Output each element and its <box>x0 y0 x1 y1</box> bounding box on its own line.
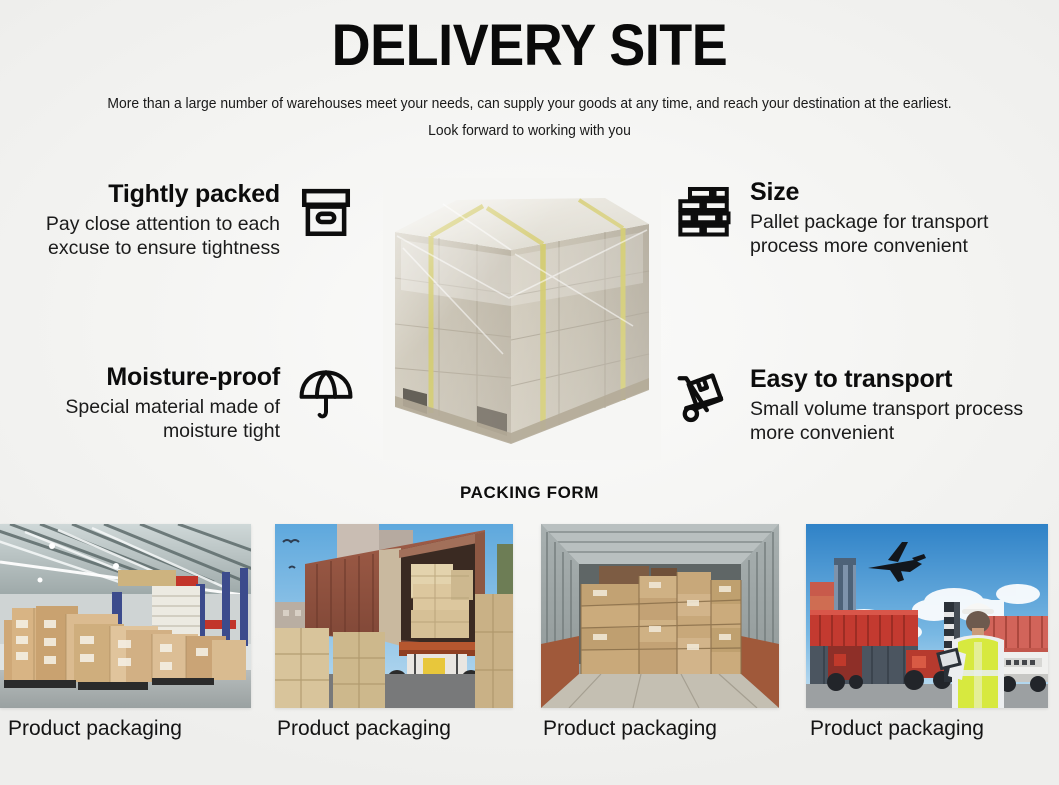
feature-description: Pay close attention to each excuse to en… <box>0 212 280 262</box>
photo-caption: Product packaging <box>8 716 182 741</box>
photo-caption: Product packaging <box>277 716 451 741</box>
feature-text: Size Pallet package for transport proces… <box>750 178 1059 259</box>
header: DELIVERY SITE More than a large number o… <box>0 16 1059 145</box>
page-title: DELIVERY SITE <box>37 16 1022 77</box>
feature-heading: Easy to transport <box>750 365 952 395</box>
photo-port-logistics[interactable] <box>806 524 1048 708</box>
feature-description: Small volume transport process more conv… <box>750 397 1059 447</box>
packing-form-label: PACKING FORM <box>0 483 1059 503</box>
photo-caption: Product packaging <box>810 716 984 741</box>
feature-moisture-proof: Moisture-proof Special material made of … <box>0 363 358 444</box>
feature-size: Size Pallet package for transport proces… <box>672 178 1059 259</box>
brick-wall-icon <box>672 178 736 242</box>
photo-container-interior[interactable] <box>541 524 779 708</box>
photo-caption: Product packaging <box>543 716 717 741</box>
header-subtitle: More than a large number of warehouses m… <box>21 91 1038 145</box>
feature-heading: Moisture-proof <box>106 363 280 393</box>
feature-text: Moisture-proof Special material made of … <box>0 363 280 444</box>
subtitle-line-2: Look forward to working with you <box>21 118 1038 145</box>
box-icon <box>294 180 358 244</box>
hand-truck-icon <box>672 365 736 429</box>
feature-tightly-packed: Tightly packed Pay close attention to ea… <box>0 180 358 261</box>
feature-heading: Size <box>750 178 799 208</box>
photo-captions: Product packaging Product packaging Prod… <box>0 716 1059 756</box>
feature-easy-to-transport: Easy to transport Small volume transport… <box>672 365 1059 446</box>
photo-warehouse-interior[interactable] <box>0 524 251 708</box>
delivery-site-banner: DELIVERY SITE More than a large number o… <box>0 0 1059 785</box>
feature-description: Special material made of moisture tight <box>0 395 280 445</box>
wrapped-pallet-image <box>383 178 661 460</box>
packing-form-photo-strip <box>0 524 1059 712</box>
subtitle-line-1: More than a large number of warehouses m… <box>107 96 951 112</box>
feature-description: Pallet package for transport process mor… <box>750 210 1059 260</box>
feature-text: Easy to transport Small volume transport… <box>750 365 1059 446</box>
umbrella-icon <box>294 363 358 427</box>
feature-text: Tightly packed Pay close attention to ea… <box>0 180 280 261</box>
photo-container-loading[interactable] <box>275 524 513 708</box>
feature-heading: Tightly packed <box>108 180 280 210</box>
